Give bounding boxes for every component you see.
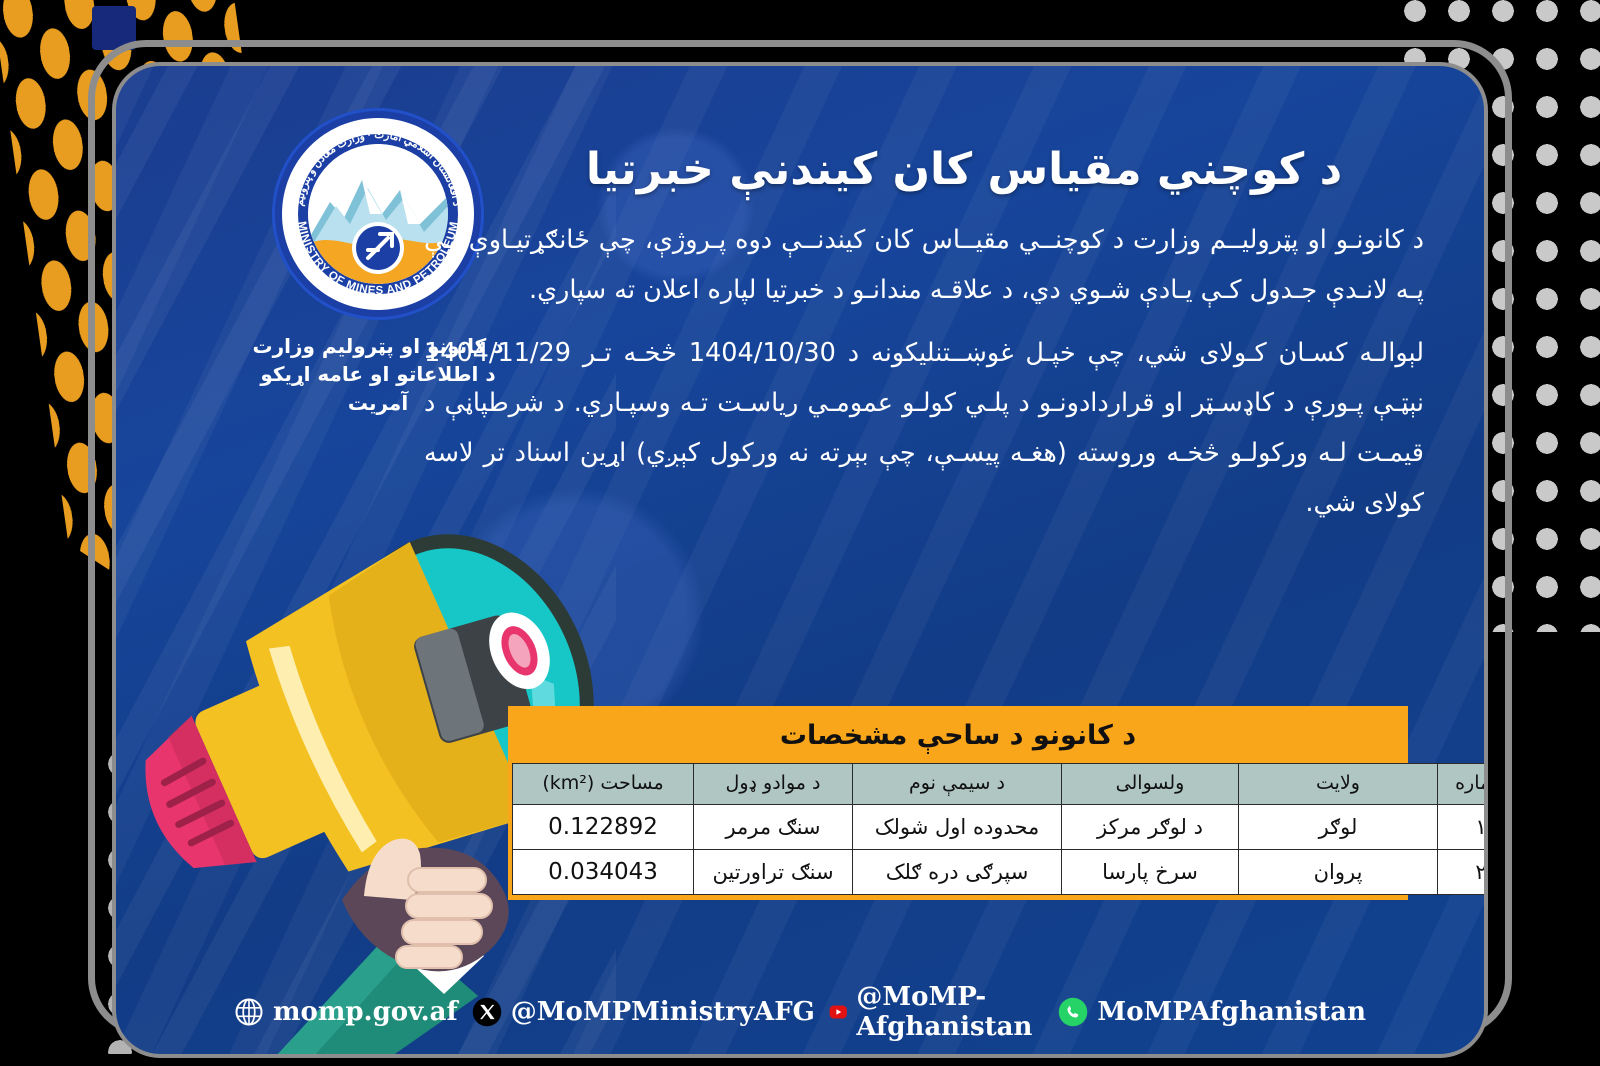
th-material: د موادو ډول <box>694 764 853 805</box>
cell-province: پروان <box>1239 849 1438 894</box>
table-row: ٢ پروان سرخ پارسا سپرګی دره ګلک سنګ تراو… <box>513 849 1485 894</box>
footer-website[interactable]: momp.gov.af <box>234 997 458 1027</box>
globe-icon <box>234 997 264 1027</box>
footer-twitter[interactable]: @MoMPMinistryAFG <box>472 997 815 1027</box>
th-area-label: مساحت (km²) <box>542 772 663 794</box>
cell-area-name: محدوده اول شولک <box>853 804 1062 849</box>
cell-area-name: سپرګی دره ګلک <box>853 849 1062 894</box>
cell-serial: ٢ <box>1438 849 1485 894</box>
th-area-name: د سيمې نوم <box>853 764 1062 805</box>
footer-twitter-label: @MoMPMinistryAFG <box>511 997 815 1027</box>
main-card: MINISTRY OF MINES AND PETROLEUM د افغانس… <box>116 66 1484 1054</box>
cell-area-km2: 0.034043 <box>513 849 694 894</box>
cell-province: لوګر <box>1239 804 1438 849</box>
cell-material: سنګ مرمر <box>694 804 853 849</box>
svg-text:د افغانستان اسلامي امارت · وزا: د افغانستان اسلامي امارت · وزارت معادن و… <box>293 129 462 207</box>
mine-sites-table: شماره ولايت ولسوالی د سيمې نوم د موادو ډ… <box>512 763 1484 895</box>
th-province: ولايت <box>1239 764 1438 805</box>
cell-district: سرخ پارسا <box>1062 849 1239 894</box>
cell-material: سنګ تراورتین <box>694 849 853 894</box>
body-paragraph-1: د کانونـو او پټروليــم وزارت د کوچنــي م… <box>424 216 1424 315</box>
footer-youtube[interactable]: @MoMP-Afghanistan <box>829 982 1045 1042</box>
mine-sites-table-container: د کانونو د ساحې مشخصات شماره ولايت ولسوا… <box>508 706 1408 900</box>
footer-social-bar: momp.gov.af @MoMPMinistryAFG @MoMP-Afgha… <box>234 984 1366 1040</box>
th-area-km2: مساحت (km²) <box>513 764 694 805</box>
footer-website-label: momp.gov.af <box>273 997 458 1027</box>
cell-serial: ١ <box>1438 804 1485 849</box>
youtube-icon <box>829 997 847 1027</box>
cell-area-km2: 0.122892 <box>513 804 694 849</box>
announcement-body: د کانونـو او پټروليــم وزارت د کوچنــي م… <box>424 216 1424 528</box>
poster-root: MINISTRY OF MINES AND PETROLEUM د افغانس… <box>0 0 1600 1066</box>
th-serial: شماره <box>1438 764 1485 805</box>
table-row: ١ لوګر د لوګر مرکز محدوده اول شولک سنګ م… <box>513 804 1485 849</box>
th-district: ولسوالی <box>1062 764 1239 805</box>
page-title: د کوچني مقياس کان کيندنې خبرتيا <box>504 144 1424 195</box>
table-header-row: شماره ولايت ولسوالی د سيمې نوم د موادو ډ… <box>513 764 1485 805</box>
x-twitter-icon <box>472 997 502 1027</box>
whatsapp-icon <box>1058 997 1088 1027</box>
table-title: د کانونو د ساحې مشخصات <box>512 710 1404 763</box>
footer-whatsapp[interactable]: MoMPAfghanistan <box>1058 997 1366 1027</box>
footer-whatsapp-label: MoMPAfghanistan <box>1097 997 1366 1027</box>
cell-district: د لوګر مرکز <box>1062 804 1239 849</box>
table-body: ١ لوګر د لوګر مرکز محدوده اول شولک سنګ م… <box>513 804 1485 894</box>
footer-youtube-label: @MoMP-Afghanistan <box>856 982 1044 1042</box>
